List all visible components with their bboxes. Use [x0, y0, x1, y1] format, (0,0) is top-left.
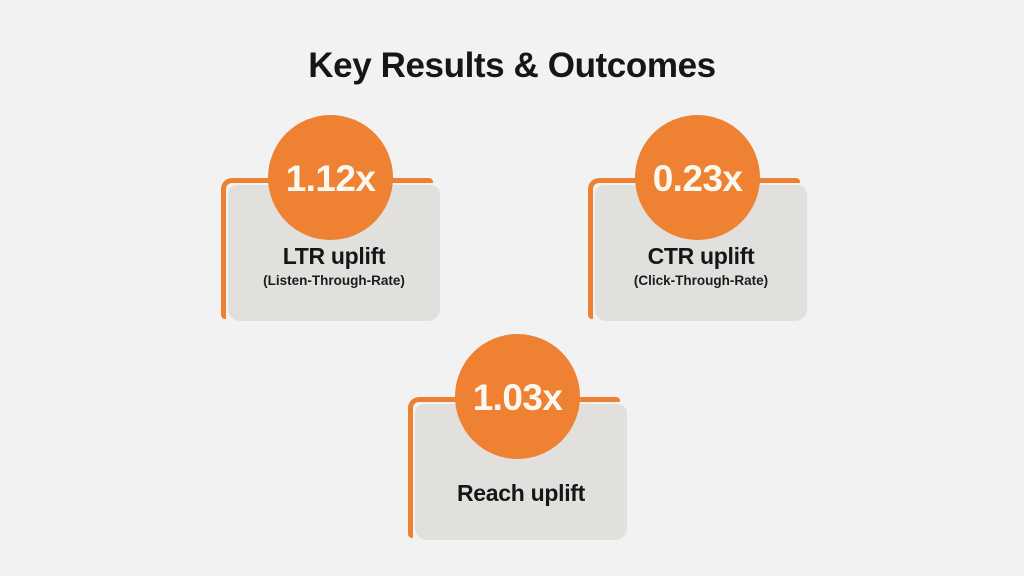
metric-text-reach: Reach uplift	[415, 480, 627, 509]
metric-sublabel-ctr: (Click-Through-Rate)	[595, 272, 807, 290]
metric-value-ltr: 1.12x	[286, 160, 376, 197]
metric-badge-ctr: 0.23x	[635, 115, 760, 240]
metric-text-ctr: CTR uplift (Click-Through-Rate)	[595, 243, 807, 290]
metric-label-ctr: CTR uplift	[595, 243, 807, 269]
metric-label-ltr: LTR uplift	[228, 243, 440, 269]
metric-sublabel-ltr: (Listen-Through-Rate)	[228, 272, 440, 290]
metric-value-ctr: 0.23x	[653, 160, 743, 197]
page-title: Key Results & Outcomes	[0, 46, 1024, 86]
metric-value-reach: 1.03x	[473, 379, 563, 416]
slide-canvas: Key Results & Outcomes 1.12x LTR uplift …	[0, 0, 1024, 576]
metric-text-ltr: LTR uplift (Listen-Through-Rate)	[228, 243, 440, 290]
metric-badge-ltr: 1.12x	[268, 115, 393, 240]
metric-label-reach: Reach uplift	[415, 480, 627, 506]
metric-badge-reach: 1.03x	[455, 334, 580, 459]
